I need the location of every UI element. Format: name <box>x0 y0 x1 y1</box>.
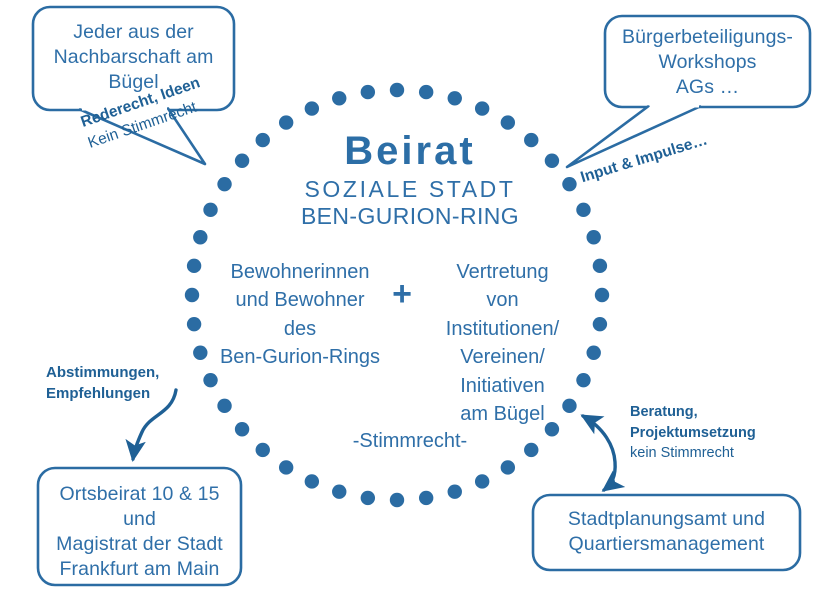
bubble-line: Bürgerbeteiligungs- <box>610 25 805 50</box>
box-line: Ortsbeirat 10 & 15 <box>42 482 237 507</box>
box-ortsbeirat-text: Ortsbeirat 10 & 15 und Magistrat der Sta… <box>42 482 237 582</box>
box-line: und <box>42 507 237 532</box>
institutions-line: Vertretung <box>420 258 585 286</box>
bubble-line: Jeder aus der <box>38 20 229 45</box>
plus-icon: + <box>388 277 416 311</box>
ring-members-residents: Bewohnerinnen und Bewohner des Ben-Gurio… <box>205 258 395 372</box>
box-line: Frankfurt am Main <box>42 557 237 582</box>
arrow-label-line: Projektumsetzung <box>630 423 756 444</box>
box-line: Stadtplanungsamt und <box>537 507 796 532</box>
institutions-line: am Bügel <box>420 400 585 428</box>
institutions-line: von <box>420 286 585 314</box>
arrow-label-line: Empfehlungen <box>46 383 159 404</box>
ring-members-institutions: Vertretung von Institutionen/ Vereinen/ … <box>420 258 585 428</box>
residents-line: Ben-Gurion-Rings <box>205 343 395 371</box>
bubble-line: Nachbarschaft am <box>38 45 229 70</box>
diagram-canvas: Jeder aus der Nachbarschaft am Bügel Bür… <box>0 0 820 600</box>
ring-dot <box>193 230 207 244</box>
ring-dot <box>332 91 346 105</box>
residents-line: Bewohnerinnen <box>205 258 395 286</box>
ring-dot <box>217 399 231 413</box>
institutions-line: Initiativen <box>420 372 585 400</box>
ring-dot <box>475 101 489 115</box>
ring-dot <box>448 91 462 105</box>
box-line: Magistrat der Stadt <box>42 532 237 557</box>
ring-dot <box>501 460 515 474</box>
ring-dot <box>279 460 293 474</box>
speech-bubble-participation-text: Bürgerbeteiligungs- Workshops AGs … <box>610 25 805 100</box>
box-line: Quartiersmanagement <box>537 532 796 557</box>
institutions-line: Vereinen/ <box>420 343 585 371</box>
arrow-label-beratung: Beratung, Projektumsetzung kein Stimmrec… <box>630 402 756 464</box>
ring-dot <box>305 474 319 488</box>
arrow-label-line: kein Stimmrecht <box>630 443 756 464</box>
arrow-ring-stadtplanungsamt-bidirectional <box>583 416 615 490</box>
ring-dot <box>448 485 462 499</box>
arrow-label-abstimmungen: Abstimmungen, Empfehlungen <box>46 362 159 405</box>
residents-line: und Bewohner <box>205 286 395 314</box>
page-subtitle-line2: BEN-GURION-RING <box>0 203 820 230</box>
ring-dot <box>361 85 375 99</box>
ring-dot <box>587 230 601 244</box>
arrow-label-line: Abstimmungen, <box>46 362 159 383</box>
ring-dot <box>475 474 489 488</box>
arrow-label-line: Beratung, <box>630 402 756 423</box>
page-subtitle-line1: SOZIALE STADT <box>0 176 820 203</box>
institutions-line: Institutionen/ <box>420 315 585 343</box>
bubble-line: AGs … <box>610 75 805 100</box>
ring-dot <box>332 485 346 499</box>
ring-dot <box>390 493 404 507</box>
ring-dot <box>419 491 433 505</box>
ring-dot <box>501 115 515 129</box>
ring-dot <box>593 259 607 273</box>
ring-dot <box>419 85 433 99</box>
ring-dot <box>203 373 217 387</box>
ring-dot <box>187 259 201 273</box>
ring-dot <box>305 101 319 115</box>
ring-dot <box>390 83 404 97</box>
bubble-line: Workshops <box>610 50 805 75</box>
page-title: Beirat <box>0 129 820 174</box>
ring-dot <box>595 288 609 302</box>
ring-dot <box>587 346 601 360</box>
ring-dot <box>593 317 607 331</box>
ring-dot <box>279 115 293 129</box>
residents-line: des <box>205 315 395 343</box>
ring-dot <box>361 491 375 505</box>
ring-dot <box>185 288 199 302</box>
box-stadtplanungsamt-text: Stadtplanungsamt und Quartiersmanagement <box>537 507 796 557</box>
ring-dot <box>187 317 201 331</box>
speech-bubble-neighbourhood-text: Jeder aus der Nachbarschaft am Bügel <box>38 20 229 95</box>
